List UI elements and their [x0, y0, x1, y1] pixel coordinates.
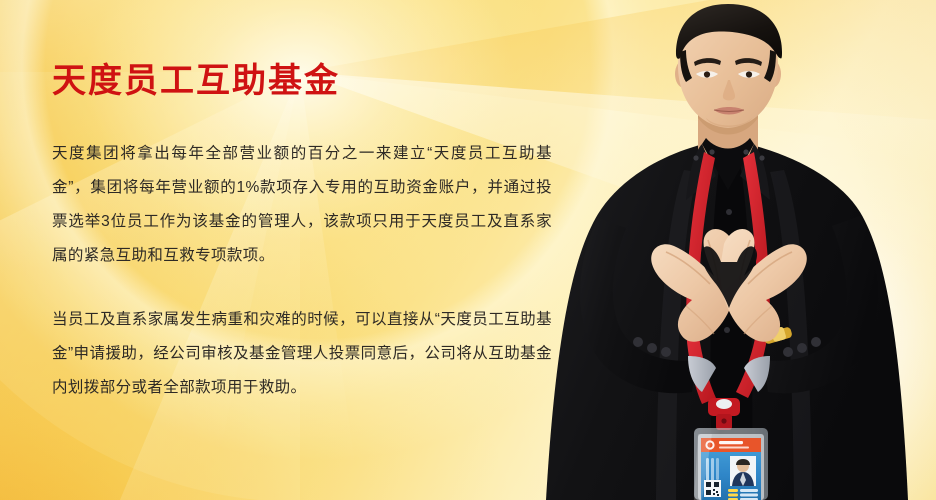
body-paragraph-2: 当员工及直系家属发生病重和灾难的时候，可以直接从“天度员工互助基金”申请援助，经… [52, 303, 552, 405]
head [675, 4, 782, 128]
employee-id-badge [694, 428, 768, 500]
body-paragraph-1: 天度集团将拿出每年全部营业额的百分之一来建立“天度员工互助基金”，集团将每年营业… [52, 137, 552, 273]
promo-banner: 天度员工互助基金 天度集团将拿出每年全部营业额的百分之一来建立“天度员工互助基金… [0, 0, 936, 500]
page-title: 天度员工互助基金 [52, 62, 552, 101]
badge-fields [728, 489, 758, 500]
copy-block: 天度员工互助基金 天度集团将拿出每年全部营业额的百分之一来建立“天度员工互助基金… [52, 62, 552, 405]
employee-photo [516, 0, 936, 500]
